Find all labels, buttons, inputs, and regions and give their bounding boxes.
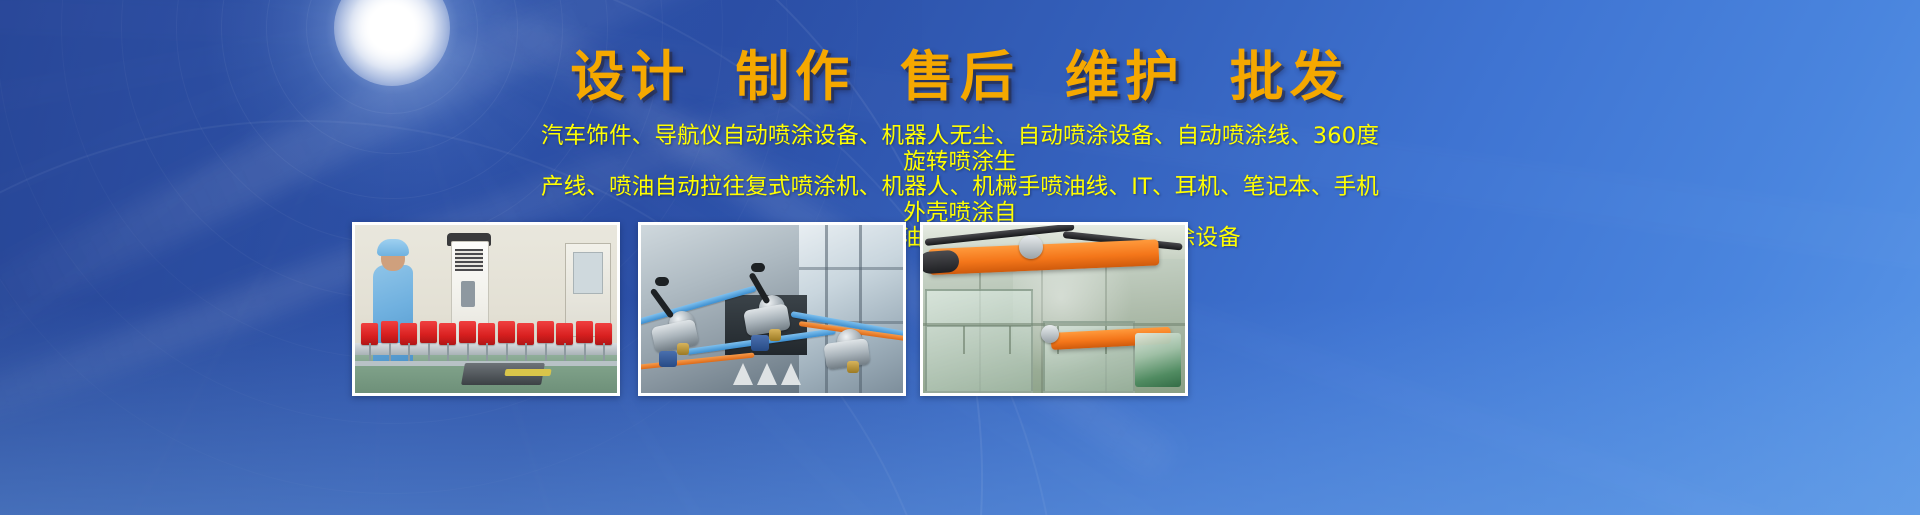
red-coating-fixture [381,321,398,343]
fixture-stem [408,343,410,361]
red-coating-fixture [517,323,534,345]
red-coating-fixture [556,323,573,345]
photo-robot-spray-arm[interactable] [920,222,1188,396]
photo-strip [0,0,1920,515]
red-fixture-row [361,321,617,351]
fixture-stem [525,343,527,361]
red-coating-fixture [361,323,378,345]
booth-glass-panel [925,289,1033,393]
fixture-stem [486,343,488,361]
promo-banner: 设计 制作 售后 维护 批发 汽车饰件、导航仪自动喷涂设备、机器人无尘、自动喷涂… [0,0,1920,515]
photo-spray-gun-assembly[interactable] [638,222,906,396]
workpiece [1135,333,1181,387]
valve-block [751,335,769,351]
photo-cleanroom-coating-conveyor[interactable] [352,222,620,396]
valve-block [659,351,677,367]
worker-cap [377,239,409,256]
photo-3-content [923,225,1185,393]
red-coating-fixture [537,321,554,343]
window-mullion [859,225,862,393]
red-coating-fixture [498,321,515,343]
robot-joint [1041,325,1059,343]
parts-tray-marker [504,369,551,376]
workpiece-cone [733,363,753,385]
fixture-stem [428,343,430,361]
red-coating-fixture [478,323,495,345]
fixture-stem [603,343,605,361]
fixture-stem [467,343,469,361]
part-hook [1009,326,1011,354]
fixture-stem [506,343,508,361]
fixture-stem [584,343,586,361]
brass-fitting [769,329,781,341]
brass-fitting [847,361,859,373]
fixture-stem [369,343,371,361]
fixture-stem [564,343,566,361]
red-coating-fixture [459,321,476,343]
red-coating-fixture [400,323,417,345]
red-coating-fixture [595,323,612,345]
part-hook [963,326,965,354]
fixture-stem [545,343,547,361]
photo-2-content [641,225,903,393]
red-coating-fixture [439,323,456,345]
workpiece-cone [757,363,777,385]
fixture-stem [389,343,391,361]
brass-fitting [677,343,689,355]
spray-gun-knob [751,263,765,272]
fixture-stem [447,343,449,361]
red-coating-fixture [576,321,593,343]
photo-1-content [355,225,617,393]
ac-unit-panel [461,281,475,307]
spray-gun-knob [655,277,669,286]
ac-unit-grill [455,249,483,271]
robot-joint [1019,235,1043,259]
workpiece-cone [781,363,801,385]
window-rail [799,267,903,270]
red-coating-fixture [420,321,437,343]
